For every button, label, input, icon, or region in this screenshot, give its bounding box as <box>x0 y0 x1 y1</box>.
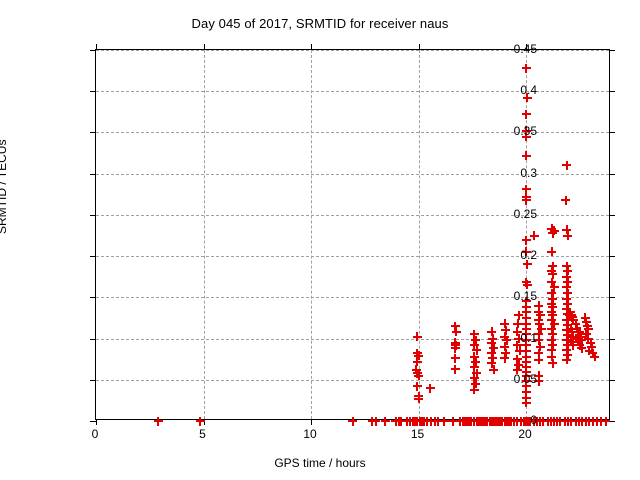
scatter-point <box>547 278 556 287</box>
scatter-point <box>470 352 479 361</box>
x-tick <box>96 419 97 425</box>
y-tick-label: 0.1 <box>520 331 537 345</box>
scatter-point <box>534 349 543 358</box>
scatter-point <box>547 266 556 275</box>
scatter-point <box>516 417 525 426</box>
scatter-point <box>451 354 460 363</box>
scatter-point <box>550 319 559 328</box>
x-tick-label: 0 <box>92 427 99 441</box>
scatter-point <box>562 294 571 303</box>
scatter-point <box>510 417 519 426</box>
scatter-point <box>451 365 460 374</box>
scatter-point <box>419 417 428 426</box>
gridline-vertical <box>311 50 312 419</box>
scatter-point <box>413 417 422 426</box>
x-tick-label: 20 <box>518 427 531 441</box>
scatter-point <box>514 311 523 320</box>
y-tick-right <box>609 421 615 422</box>
scatter-point <box>534 355 543 364</box>
scatter-point <box>593 417 602 426</box>
scatter-point <box>550 417 559 426</box>
scatter-point <box>440 417 449 426</box>
scatter-point <box>575 327 584 336</box>
scatter-point <box>577 336 586 345</box>
scatter-point <box>571 319 580 328</box>
scatter-point <box>500 354 509 363</box>
x-tick <box>419 419 420 425</box>
scatter-point <box>471 357 480 366</box>
scatter-point <box>547 308 556 317</box>
scatter-point <box>391 417 400 426</box>
scatter-point <box>397 417 406 426</box>
scatter-point <box>582 417 591 426</box>
scatter-point <box>548 303 557 312</box>
gridline-vertical <box>204 50 205 419</box>
scatter-point <box>576 332 585 341</box>
scatter-point <box>498 417 507 426</box>
scatter-point <box>560 417 569 426</box>
scatter-point <box>562 272 571 281</box>
y-tick-label: 0.15 <box>514 289 537 303</box>
y-tick-right <box>609 297 615 298</box>
scatter-point <box>415 417 424 426</box>
scatter-point <box>448 417 457 426</box>
scatter-point <box>563 309 572 318</box>
scatter-point <box>563 278 572 287</box>
y-tick-right <box>609 380 615 381</box>
scatter-point <box>500 332 509 341</box>
scatter-point <box>348 417 357 426</box>
scatter-point <box>583 322 592 331</box>
scatter-point <box>368 417 377 426</box>
scatter-point <box>562 161 571 170</box>
scatter-point <box>452 327 461 336</box>
y-tick <box>90 380 96 381</box>
scatter-point <box>491 417 500 426</box>
scatter-point <box>584 324 593 333</box>
scatter-point <box>489 344 498 353</box>
x-axis-title: GPS time / hours <box>0 456 640 470</box>
y-tick-label: 0.45 <box>514 42 537 56</box>
scatter-point <box>501 349 510 358</box>
scatter-point <box>574 417 583 426</box>
y-tick-label: 0.25 <box>514 207 537 221</box>
scatter-point <box>569 316 578 325</box>
scatter-point <box>470 374 479 383</box>
scatter-point <box>547 346 556 355</box>
y-tick-label: 0.2 <box>520 248 537 262</box>
scatter-point <box>460 417 469 426</box>
scatter-point <box>588 349 597 358</box>
scatter-point <box>563 417 572 426</box>
scatter-point <box>489 365 498 374</box>
scatter-point <box>577 417 586 426</box>
y-tick <box>90 256 96 257</box>
scatter-point <box>489 417 498 426</box>
scatter-point <box>515 346 524 355</box>
scatter-point <box>472 346 481 355</box>
scatter-point <box>502 336 511 345</box>
scatter-point <box>472 369 481 378</box>
scatter-point <box>571 417 580 426</box>
scatter-point <box>402 417 411 426</box>
scatter-point <box>413 382 422 391</box>
scatter-point <box>427 417 436 426</box>
y-tick-right <box>609 339 615 340</box>
scatter-point <box>590 352 599 361</box>
scatter-point <box>582 318 591 327</box>
y-tick <box>90 91 96 92</box>
y-tick-label: 0 <box>530 413 537 427</box>
scatter-point <box>577 344 586 353</box>
scatter-point <box>530 231 539 240</box>
scatter-point <box>494 417 503 426</box>
scatter-point <box>413 369 422 378</box>
scatter-point <box>513 417 522 426</box>
y-tick-right <box>609 91 615 92</box>
y-tick <box>90 50 96 51</box>
scatter-point <box>548 359 557 368</box>
y-tick-label: 0.05 <box>514 372 537 386</box>
y-tick-right <box>609 50 615 51</box>
scatter-point <box>496 417 505 426</box>
scatter-point <box>413 332 422 341</box>
scatter-point <box>587 342 596 351</box>
scatter-point <box>543 417 552 426</box>
scatter-point <box>562 262 571 271</box>
y-tick-right <box>609 215 615 216</box>
scatter-point <box>413 349 422 358</box>
x-tick-top <box>96 44 97 50</box>
scatter-point <box>573 327 582 336</box>
scatter-point <box>548 341 557 350</box>
scatter-point <box>565 311 574 320</box>
scatter-point <box>568 313 577 322</box>
scatter-point <box>562 336 571 345</box>
scatter-point <box>563 231 572 240</box>
scatter-point <box>487 327 496 336</box>
scatter-point <box>487 349 496 358</box>
scatter-point <box>523 280 532 289</box>
scatter-point <box>569 332 578 341</box>
x-tick <box>204 419 205 425</box>
scatter-point <box>458 417 467 426</box>
scatter-point <box>537 324 546 333</box>
scatter-point <box>502 417 511 426</box>
x-tick-label: 10 <box>303 427 316 441</box>
scatter-point <box>501 326 510 335</box>
x-tick-top <box>204 44 205 50</box>
scatter-point <box>381 417 390 426</box>
y-tick-right <box>609 256 615 257</box>
scatter-point <box>470 341 479 350</box>
y-tick-label: 0.3 <box>520 166 537 180</box>
scatter-point <box>487 417 496 426</box>
scatter-point <box>456 417 465 426</box>
y-tick <box>90 174 96 175</box>
y-tick-label: 0.35 <box>514 124 537 138</box>
scatter-point <box>556 417 565 426</box>
x-tick <box>311 419 312 425</box>
scatter-point <box>567 417 576 426</box>
y-tick-right <box>609 174 615 175</box>
x-tick-label: 15 <box>411 427 424 441</box>
scatter-point <box>539 417 548 426</box>
scatter-point <box>548 270 557 279</box>
scatter-point <box>588 417 597 426</box>
y-tick-label: 0.4 <box>520 83 537 97</box>
scatter-point <box>409 417 418 426</box>
scatter-point <box>500 417 509 426</box>
x-tick-top <box>311 44 312 50</box>
scatter-point <box>371 417 380 426</box>
scatter-point <box>561 196 570 205</box>
scatter-point <box>462 417 471 426</box>
scatter-point <box>562 304 571 313</box>
scatter-point <box>563 266 572 275</box>
scatter-point <box>481 417 490 426</box>
scatter-point <box>507 417 516 426</box>
scatter-point <box>562 355 571 364</box>
scatter-point <box>562 316 571 325</box>
scatter-point <box>548 294 557 303</box>
scatter-point <box>547 299 556 308</box>
scatter-point <box>500 319 509 328</box>
scatter-point <box>550 283 559 292</box>
scatter-point <box>485 417 494 426</box>
y-tick <box>90 297 96 298</box>
y-axis-title: SRMTID / TECUs <box>0 140 9 234</box>
scatter-point <box>451 344 460 353</box>
scatter-point <box>547 352 556 361</box>
scatter-point <box>500 342 509 351</box>
scatter-point <box>548 311 557 320</box>
y-tick <box>90 132 96 133</box>
scatter-point <box>563 299 572 308</box>
scatter-point <box>470 385 479 394</box>
scatter-point <box>154 417 163 426</box>
scatter-point <box>585 346 594 355</box>
scatter-point <box>562 225 571 234</box>
scatter-point <box>562 346 571 355</box>
scatter-point <box>513 355 522 364</box>
y-tick <box>90 339 96 340</box>
x-tick-top <box>419 44 420 50</box>
scatter-point <box>513 319 522 328</box>
scatter-point <box>423 417 432 426</box>
scatter-point <box>534 308 543 317</box>
scatter-point <box>472 417 481 426</box>
scatter-point <box>433 417 442 426</box>
gridline-vertical <box>526 50 527 419</box>
scatter-point <box>426 384 435 393</box>
scatter-point <box>575 341 584 350</box>
plot-area <box>95 49 610 420</box>
scatter-point <box>546 417 555 426</box>
scatter-point <box>465 417 474 426</box>
scatter-point <box>467 417 476 426</box>
scatter-point <box>572 324 581 333</box>
scatter-point <box>471 336 480 345</box>
scatter-point <box>548 262 557 271</box>
scatter-point <box>548 229 557 238</box>
scatter-point <box>547 336 556 345</box>
y-tick-right <box>609 132 615 133</box>
scatter-point <box>504 417 513 426</box>
scatter-point <box>476 417 485 426</box>
scatter-point <box>563 351 572 360</box>
scatter-point <box>534 316 543 325</box>
scatter-point <box>581 313 590 322</box>
scatter-point <box>536 311 545 320</box>
scatter-point <box>568 327 577 336</box>
scatter-point <box>474 417 483 426</box>
scatter-point <box>430 417 439 426</box>
gridline-vertical <box>419 50 420 419</box>
scatter-point <box>413 357 422 366</box>
scatter-point <box>535 319 544 328</box>
scatter-point <box>395 417 404 426</box>
scatter-point <box>569 341 578 350</box>
page-title: Day 045 of 2017, SRMTID for receiver nau… <box>0 16 640 31</box>
scatter-point <box>567 324 576 333</box>
scatter-point <box>405 417 414 426</box>
scatter-point <box>470 363 479 372</box>
scatter-point <box>547 316 556 325</box>
scatter-point <box>470 417 479 426</box>
scatter-point <box>597 417 606 426</box>
scatter-point <box>451 322 460 331</box>
scatter-point <box>483 417 492 426</box>
scatter-point <box>514 360 523 369</box>
scatter-point <box>479 417 488 426</box>
scatter-point <box>566 308 575 317</box>
x-tick <box>526 419 527 425</box>
scatter-point <box>487 359 496 368</box>
scatter-point <box>563 321 572 330</box>
chart-page: Day 045 of 2017, SRMTID for receiver nau… <box>0 0 640 480</box>
scatter-point <box>553 417 562 426</box>
scatter-point <box>550 226 559 235</box>
scatter-point <box>547 324 556 333</box>
scatter-point <box>451 341 460 350</box>
scatter-point <box>567 311 576 320</box>
x-tick-label: 5 <box>199 427 206 441</box>
scatter-point <box>562 283 571 292</box>
scatter-point <box>585 417 594 426</box>
y-tick <box>90 215 96 216</box>
scatter-point <box>563 341 572 350</box>
scatter-point <box>562 326 571 335</box>
scatter-point <box>547 224 556 233</box>
scatter-point <box>488 354 497 363</box>
